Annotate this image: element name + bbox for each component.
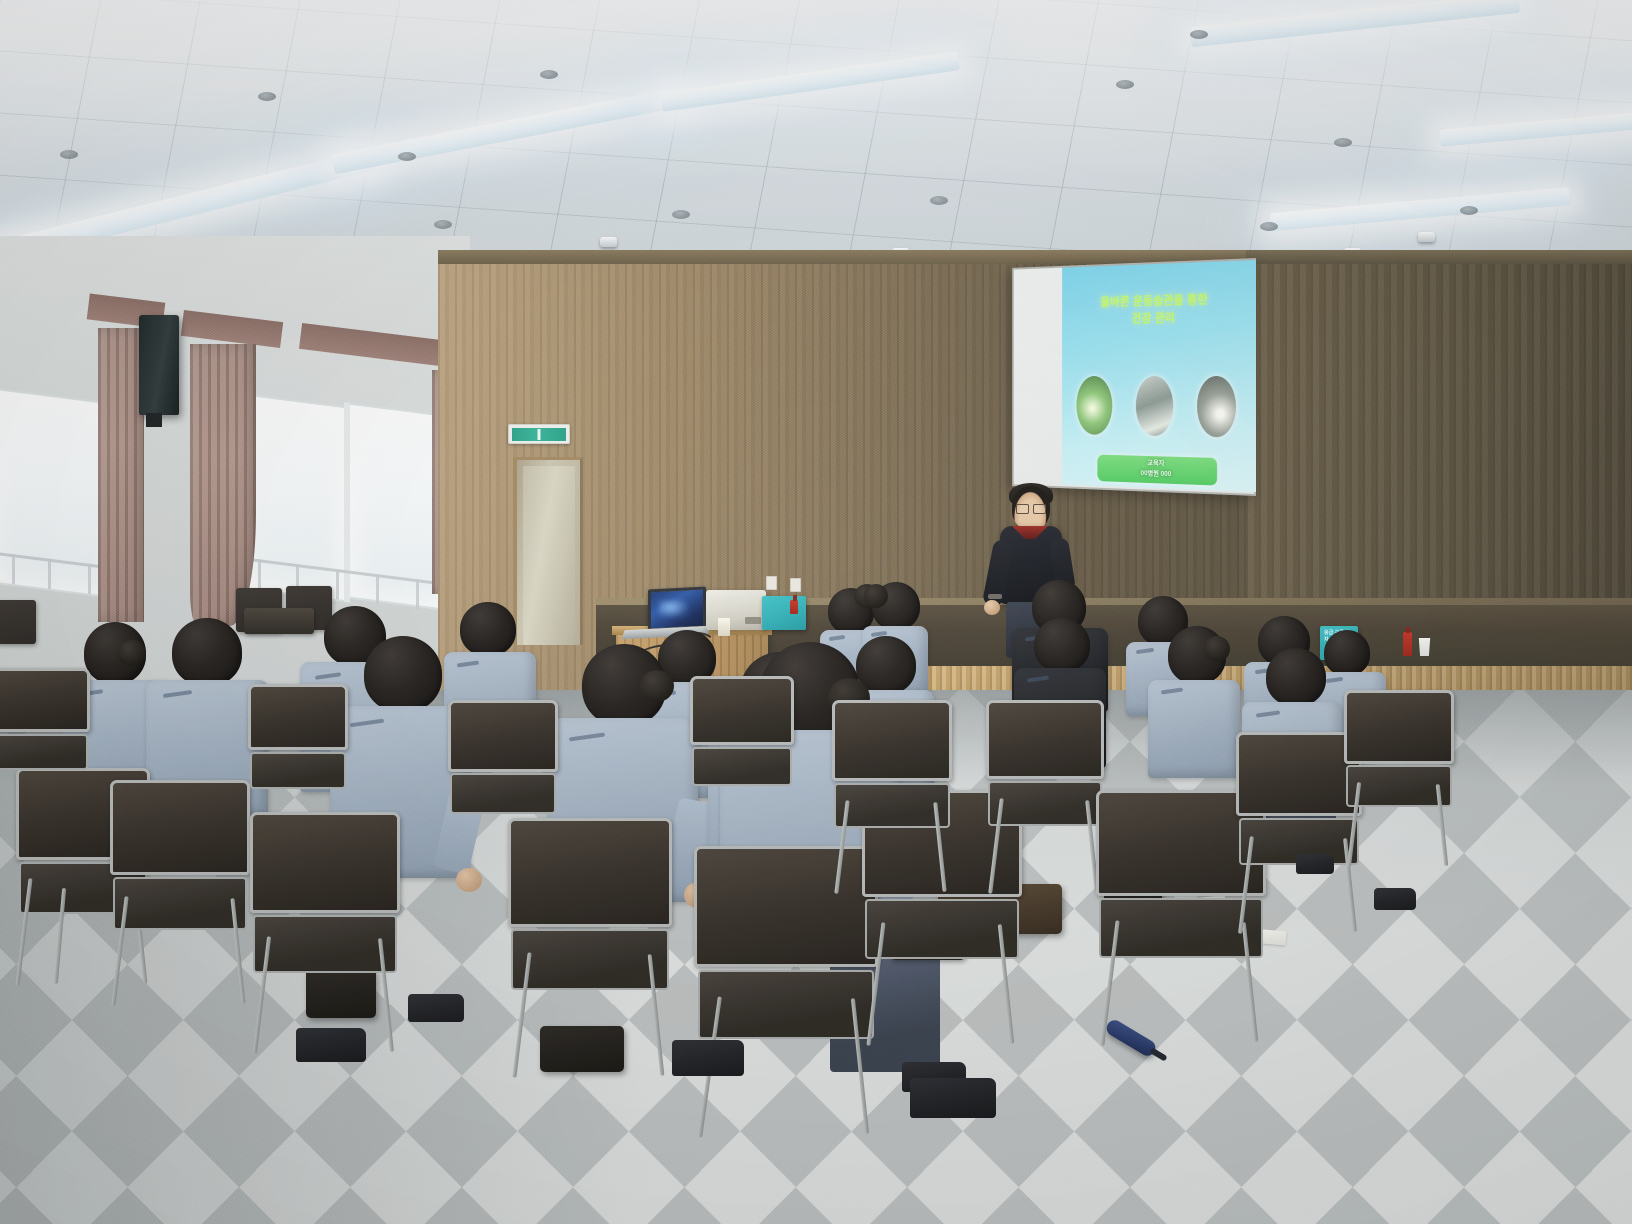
chair[interactable] bbox=[110, 780, 250, 986]
presenter-hand bbox=[984, 600, 1000, 615]
chair-seat bbox=[250, 752, 346, 789]
torso bbox=[1148, 680, 1240, 778]
audience-member bbox=[1148, 626, 1240, 776]
chair-back bbox=[448, 700, 558, 772]
slide-photo-row bbox=[1066, 376, 1249, 438]
sprinkler-head bbox=[540, 70, 558, 79]
railing-post bbox=[258, 559, 261, 589]
exit-icon bbox=[512, 428, 566, 441]
sprinkler-head bbox=[1460, 206, 1478, 215]
chair-back bbox=[986, 700, 1104, 779]
shoe bbox=[910, 1078, 996, 1118]
railing-post bbox=[88, 564, 91, 594]
laptop-screen[interactable] bbox=[648, 586, 706, 631]
track-light-spot bbox=[600, 237, 617, 247]
hair-bun bbox=[864, 584, 888, 608]
head bbox=[172, 618, 242, 686]
hair-bun bbox=[118, 640, 146, 666]
chair[interactable] bbox=[690, 676, 794, 826]
chair-back bbox=[1344, 690, 1454, 764]
chair-back bbox=[0, 668, 90, 732]
chair-seat bbox=[253, 915, 397, 972]
sprinkler-head bbox=[60, 150, 78, 159]
chair[interactable] bbox=[832, 700, 952, 876]
ceiling-speaker bbox=[1116, 80, 1134, 89]
sprinkler-head bbox=[930, 196, 948, 205]
railing-post bbox=[336, 569, 339, 599]
sprinkler-head bbox=[672, 210, 690, 219]
railing-post bbox=[376, 574, 379, 604]
hair-bun bbox=[640, 670, 674, 702]
chair-seat bbox=[865, 899, 1019, 959]
sprinkler-head bbox=[1334, 138, 1352, 147]
shoe bbox=[408, 994, 464, 1022]
wall-outlet bbox=[790, 578, 801, 592]
shoe bbox=[296, 1028, 366, 1062]
slide-photo-oval-2 bbox=[1135, 376, 1172, 436]
glasses-icon bbox=[1016, 504, 1046, 512]
chair[interactable] bbox=[250, 812, 400, 1032]
slide-presenter-badge: 교육자 00병원 000 bbox=[1097, 455, 1217, 486]
chair-back bbox=[110, 780, 250, 875]
wall-top-cap bbox=[1246, 250, 1632, 264]
projected-slide: 올바른 운동습관을 통한 건강 관리 교육자 00병원 000 bbox=[1062, 260, 1256, 492]
chair-seat bbox=[511, 929, 668, 990]
ceiling-speaker bbox=[1190, 30, 1208, 39]
slide-photo-oval-3 bbox=[1197, 376, 1236, 438]
chair[interactable] bbox=[986, 700, 1104, 872]
chair[interactable] bbox=[448, 700, 558, 856]
window-curtain bbox=[98, 328, 144, 622]
wristwatch bbox=[988, 594, 1002, 599]
head bbox=[364, 636, 442, 712]
wall-speaker bbox=[139, 315, 179, 415]
stacked-chair bbox=[0, 600, 36, 644]
sprinkler-head bbox=[1260, 222, 1278, 231]
chair-seat bbox=[698, 970, 875, 1039]
projector bbox=[706, 590, 766, 630]
railing-post bbox=[12, 554, 15, 584]
sprinkler-head bbox=[398, 152, 416, 161]
emergency-exit-sign bbox=[508, 424, 570, 444]
wall-outlet bbox=[766, 576, 777, 590]
shoe bbox=[672, 1040, 744, 1076]
window-curtain bbox=[190, 344, 256, 626]
chair-back bbox=[690, 676, 794, 745]
hand bbox=[456, 868, 482, 892]
sprinkler-head bbox=[434, 220, 452, 229]
slide-title: 올바른 운동습관을 통한 건강 관리 bbox=[1062, 290, 1250, 328]
railing-post bbox=[48, 559, 51, 589]
chair-seat bbox=[0, 734, 88, 770]
fire-extinguisher-icon bbox=[1403, 632, 1412, 656]
slide-title-line-2: 건강 관리 bbox=[1062, 308, 1250, 329]
sprinkler-head bbox=[258, 92, 276, 101]
auditorium-photo: 올바른 운동습관을 통한 건강 관리 교육자 00병원 000 응급 구급 상자 bbox=[0, 0, 1632, 1224]
red-marker-object bbox=[790, 600, 798, 614]
paper-cup bbox=[1418, 638, 1431, 656]
teal-equipment-bag bbox=[762, 596, 806, 630]
railing-post bbox=[416, 579, 419, 609]
chair-back bbox=[832, 700, 952, 781]
track-light-spot bbox=[1418, 232, 1435, 242]
shoe bbox=[1374, 888, 1416, 910]
chair[interactable] bbox=[0, 668, 90, 808]
head bbox=[1034, 618, 1090, 672]
chair-seat bbox=[450, 773, 556, 814]
shoe bbox=[1296, 854, 1334, 874]
chair-back bbox=[248, 684, 348, 750]
hair-bun bbox=[1204, 636, 1230, 662]
chair-seat bbox=[113, 877, 247, 931]
chair-seat bbox=[834, 783, 949, 829]
slide-photo-oval-1 bbox=[1077, 376, 1113, 435]
head bbox=[1266, 648, 1326, 706]
chair-seat bbox=[692, 747, 792, 786]
chair[interactable] bbox=[1344, 690, 1454, 850]
projection-screen: 올바른 운동습관을 통한 건강 관리 교육자 00병원 000 bbox=[1012, 258, 1256, 496]
chair[interactable] bbox=[248, 684, 348, 828]
